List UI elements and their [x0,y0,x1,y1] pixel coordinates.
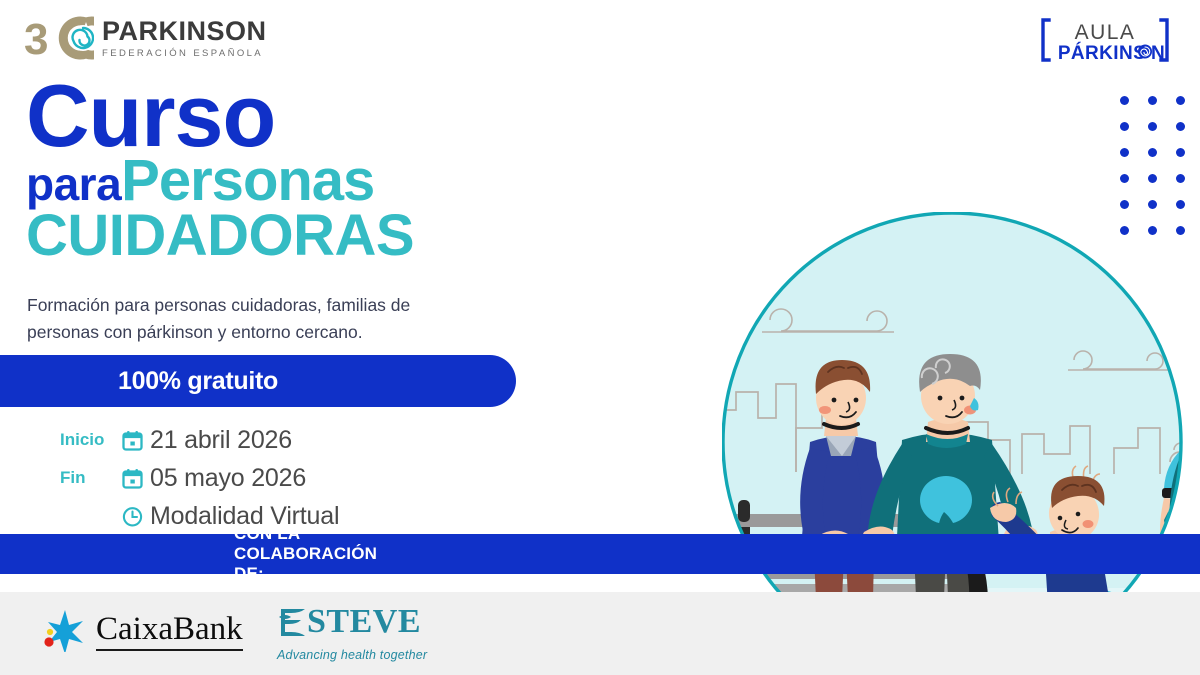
esteve-e-icon [277,605,307,643]
caixabank-wordmark: CaixaBank [96,612,243,651]
date-row-inicio: Inicio 21 abril 2026 [60,423,339,457]
title-line-two: paraPersonas [26,153,666,208]
sponsor-caixabank: CaixaBank [40,606,243,657]
poster-canvas: 3 PARKINSON FEDERACIÓN ESPAÑOLA AULA PÁR… [0,0,1200,675]
svg-text:AULA: AULA [1075,21,1136,44]
esteve-wordmark: STEVE [277,605,427,643]
collaboration-heading: CON LA COLABORACIÓN DE: [234,524,377,584]
federation-tagline: FEDERACIÓN ESPAÑOLA [102,48,267,59]
subtitle-text: Formación para personas cuidadoras, fami… [27,292,457,345]
svg-text:N: N [1151,43,1165,64]
date-label-fin: Fin [60,468,122,488]
course-dates: Inicio 21 abril 2026 Fin [60,423,339,533]
clock-icon [122,506,150,527]
calendar-icon [122,430,150,451]
svg-text:PÁRKINS: PÁRKINS [1058,42,1146,64]
federation-name: PARKINSON [102,18,267,45]
svg-text:3: 3 [24,15,48,62]
federation-logo: 3 PARKINSON FEDERACIÓN ESPAÑOLA [24,14,267,62]
sponsor-esteve: STEVE Advancing health together [277,605,427,662]
caixabank-star-icon [40,606,86,657]
date-label-inicio: Inicio [60,430,122,450]
esteve-text: STEVE [307,605,421,639]
title-word-curso: Curso [26,76,666,157]
esteve-tagline: Advancing health together [277,648,427,662]
date-value-fin: 05 mayo 2026 [150,464,306,493]
title-word-cuidadoras: CUIDADORAS [26,206,666,267]
aula-parkinson-logo: AULA PÁRKINS N [1040,14,1170,66]
anniversary-30-icon: 3 [24,14,94,62]
collaboration-bar: CON LA COLABORACIÓN DE: [0,534,1200,574]
calendar-icon [122,468,150,489]
free-price-banner: 100% gratuito [0,355,516,407]
page-title: Curso paraPersonas CUIDADORAS [26,76,666,267]
date-row-fin: Fin 05 mayo 2026 [60,461,339,495]
free-price-label: 100% gratuito [118,367,278,396]
sponsor-footer: CaixaBank STEVE Advancing health togethe… [0,592,1200,675]
date-value-inicio: 21 abril 2026 [150,426,292,455]
